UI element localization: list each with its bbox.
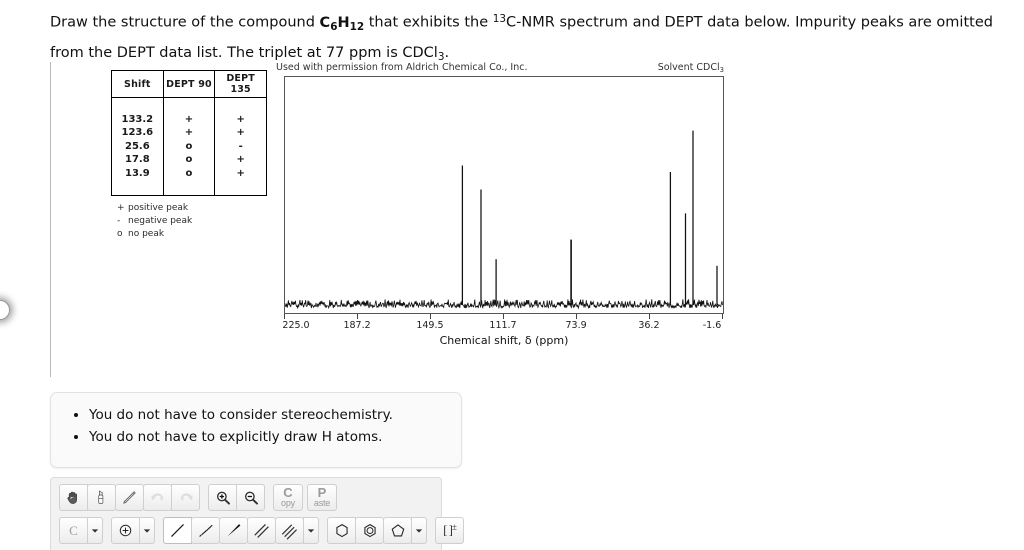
benzene-ring-tool[interactable] bbox=[355, 517, 384, 544]
cell-dept135: + bbox=[215, 126, 267, 140]
table-row: 123.6 + + bbox=[112, 126, 267, 140]
charge-tool-button[interactable] bbox=[111, 517, 140, 544]
legend-symbol-positive: + bbox=[117, 202, 128, 215]
prompt-text-1: Draw the structure of the compound bbox=[50, 15, 320, 31]
axis-tick bbox=[722, 314, 723, 319]
table-row: 13.9 o + bbox=[112, 167, 267, 181]
table-spacer-row bbox=[112, 98, 267, 113]
zoom-in-icon bbox=[214, 489, 232, 507]
axis-tick bbox=[503, 314, 504, 319]
bracket-label: [ ]± bbox=[443, 522, 456, 538]
element-dropdown-toggle[interactable] bbox=[87, 517, 103, 544]
table-row: 133.2 + + bbox=[112, 113, 267, 127]
x-axis-title: Chemical shift, δ (ppm) bbox=[284, 334, 724, 347]
axis-tick-label: 73.9 bbox=[565, 320, 586, 331]
cell-dept90: + bbox=[163, 126, 215, 140]
undo-arrow-icon bbox=[149, 489, 167, 507]
pencil-icon bbox=[121, 489, 138, 506]
question-prompt: Draw the structure of the compound C6H12… bbox=[50, 6, 1010, 70]
zoom-in-button[interactable] bbox=[208, 484, 237, 511]
triple-bond-tool[interactable] bbox=[275, 517, 304, 544]
zoom-out-button[interactable] bbox=[236, 484, 265, 511]
axis-tick bbox=[649, 314, 650, 319]
cell-dept90: + bbox=[163, 113, 215, 127]
axis-tick bbox=[430, 314, 431, 319]
legend-item: -negative peak bbox=[117, 215, 267, 228]
solid-wedge-bond-tool[interactable] bbox=[219, 517, 248, 544]
toolbar-row-primary: Copy Paste bbox=[59, 484, 346, 511]
tool-group-clipboard: Copy Paste bbox=[273, 484, 337, 511]
table-row: 17.8 o + bbox=[112, 153, 267, 167]
chevron-down-icon bbox=[307, 527, 315, 535]
axis-tick bbox=[357, 314, 358, 319]
tool-group-element: C bbox=[59, 517, 102, 544]
cell-dept135: + bbox=[215, 113, 267, 127]
cell-shift: 13.9 bbox=[112, 167, 164, 181]
charge-dropdown-toggle[interactable] bbox=[139, 517, 155, 544]
bond-dropdown-toggle[interactable] bbox=[303, 517, 319, 544]
column-header-dept90: DEPT 90 bbox=[163, 71, 215, 98]
ring-dropdown-toggle[interactable] bbox=[411, 517, 427, 544]
legend-item: +positive peak bbox=[117, 202, 267, 215]
axis-tick-label: 187.2 bbox=[343, 320, 370, 331]
cell-shift: 123.6 bbox=[112, 126, 164, 140]
tool-group-bonds bbox=[163, 517, 318, 544]
axis-tick bbox=[284, 314, 285, 319]
eraser-icon bbox=[93, 489, 110, 506]
double-bond-icon bbox=[252, 521, 271, 540]
zoom-out-icon bbox=[242, 489, 260, 507]
baseline-noise bbox=[285, 299, 723, 308]
paste-button[interactable]: Paste bbox=[307, 484, 337, 511]
nmr-spectrum: Used with permission from Aldrich Chemic… bbox=[276, 62, 731, 372]
legend-symbol-nopeak: o bbox=[117, 228, 128, 241]
tool-group-charge bbox=[111, 517, 154, 544]
nmr-figure: Shift DEPT 90 DEPT 135 133.2 + + 123.6 +… bbox=[50, 62, 740, 377]
prompt-text-4: . bbox=[444, 45, 449, 61]
bracket-charge-tool[interactable]: [ ]± bbox=[435, 517, 464, 544]
cell-shift: 17.8 bbox=[112, 153, 164, 167]
axis-tick-label: 149.5 bbox=[416, 320, 443, 331]
list-item: You do not have to explicitly draw H ato… bbox=[89, 426, 461, 448]
hashed-wedge-bond-tool[interactable] bbox=[191, 517, 220, 544]
spectrum-x-axis: 225.0187.2149.5111.773.936.2-1.6 bbox=[284, 314, 724, 336]
column-header-shift: Shift bbox=[112, 71, 164, 98]
copy-button[interactable]: Copy bbox=[273, 484, 303, 511]
legend-symbol-negative: - bbox=[117, 215, 128, 228]
chevron-down-icon bbox=[415, 527, 423, 535]
cell-dept90: o bbox=[163, 140, 215, 154]
spectrum-credit: Used with permission from Aldrich Chemic… bbox=[276, 62, 527, 74]
legend-text-negative: negative peak bbox=[128, 216, 192, 226]
dept-data-table: Shift DEPT 90 DEPT 135 133.2 + + 123.6 +… bbox=[111, 70, 267, 196]
list-item: You do not have to consider stereochemis… bbox=[89, 404, 461, 426]
cyclopentane-ring-tool[interactable] bbox=[383, 517, 412, 544]
table-row: 25.6 o - bbox=[112, 140, 267, 154]
benzene-ring-icon bbox=[361, 522, 379, 540]
molecular-formula: C6H12 bbox=[320, 15, 365, 31]
spectrum-trace bbox=[285, 77, 723, 313]
undo-button[interactable] bbox=[143, 484, 172, 511]
tool-group-draw bbox=[59, 484, 199, 511]
pentagon-icon bbox=[389, 522, 407, 540]
spectrum-header: Used with permission from Aldrich Chemic… bbox=[276, 62, 724, 74]
axis-tick bbox=[576, 314, 577, 319]
dept-table-container: Shift DEPT 90 DEPT 135 133.2 + + 123.6 +… bbox=[111, 70, 267, 241]
pan-hand-tool[interactable] bbox=[59, 484, 88, 511]
table-header-row: Shift DEPT 90 DEPT 135 bbox=[112, 71, 267, 98]
axis-tick-label: 225.0 bbox=[282, 320, 309, 331]
hand-icon bbox=[65, 489, 82, 506]
instructions-list: You do not have to consider stereochemis… bbox=[51, 404, 461, 448]
legend-text-nopeak: no peak bbox=[128, 229, 164, 239]
copy-label: Copy bbox=[281, 487, 295, 509]
spectrum-plot-area bbox=[284, 76, 724, 314]
paste-label: Paste bbox=[314, 487, 330, 509]
cell-dept135: + bbox=[215, 167, 267, 181]
carbon-13-superscript: 13 bbox=[493, 13, 506, 25]
double-bond-tool[interactable] bbox=[247, 517, 276, 544]
prompt-text-2: that exhibits the bbox=[364, 15, 493, 31]
hashed-wedge-bond-icon bbox=[196, 521, 215, 540]
eraser-tool[interactable] bbox=[87, 484, 116, 511]
axis-tick-label: 36.2 bbox=[638, 320, 659, 331]
hexagon-icon bbox=[333, 522, 351, 540]
legend-text-positive: positive peak bbox=[128, 203, 188, 213]
drag-handle[interactable] bbox=[0, 300, 10, 320]
redo-button[interactable] bbox=[171, 484, 200, 511]
element-symbol-label: C bbox=[69, 523, 78, 539]
cell-dept90: o bbox=[163, 167, 215, 181]
cell-dept135: - bbox=[215, 140, 267, 154]
cell-dept90: o bbox=[163, 153, 215, 167]
solid-wedge-bond-icon bbox=[224, 521, 243, 540]
plus-circle-icon bbox=[118, 523, 133, 538]
axis-tick-label: -1.6 bbox=[703, 320, 722, 331]
single-bond-tool[interactable] bbox=[163, 517, 192, 544]
chevron-down-icon bbox=[91, 527, 99, 535]
pencil-tool[interactable] bbox=[115, 484, 144, 511]
single-bond-icon bbox=[168, 521, 187, 540]
cell-dept135: + bbox=[215, 153, 267, 167]
dept-legend: +positive peak -negative peak ono peak bbox=[117, 202, 267, 241]
redo-arrow-icon bbox=[177, 489, 195, 507]
spectrum-solvent: Solvent CDCl3 bbox=[658, 62, 724, 74]
triple-bond-icon bbox=[280, 521, 299, 540]
instructions-box: You do not have to consider stereochemis… bbox=[50, 392, 462, 468]
tool-group-bracket: [ ]± bbox=[435, 517, 464, 544]
column-header-dept135: DEPT 135 bbox=[215, 71, 267, 98]
tool-group-rings bbox=[327, 517, 426, 544]
table-spacer-row bbox=[112, 180, 267, 195]
toolbar-row-secondary: C bbox=[59, 517, 473, 544]
chevron-down-icon bbox=[143, 527, 151, 535]
cell-shift: 25.6 bbox=[112, 140, 164, 154]
axis-tick-label: 111.7 bbox=[489, 320, 516, 331]
cyclohexane-ring-tool[interactable] bbox=[327, 517, 356, 544]
tool-group-zoom bbox=[208, 484, 264, 511]
structure-editor-toolbar: Copy Paste C bbox=[50, 477, 442, 550]
cell-shift: 133.2 bbox=[112, 113, 164, 127]
element-carbon-button[interactable]: C bbox=[59, 517, 88, 544]
legend-item: ono peak bbox=[117, 228, 267, 241]
